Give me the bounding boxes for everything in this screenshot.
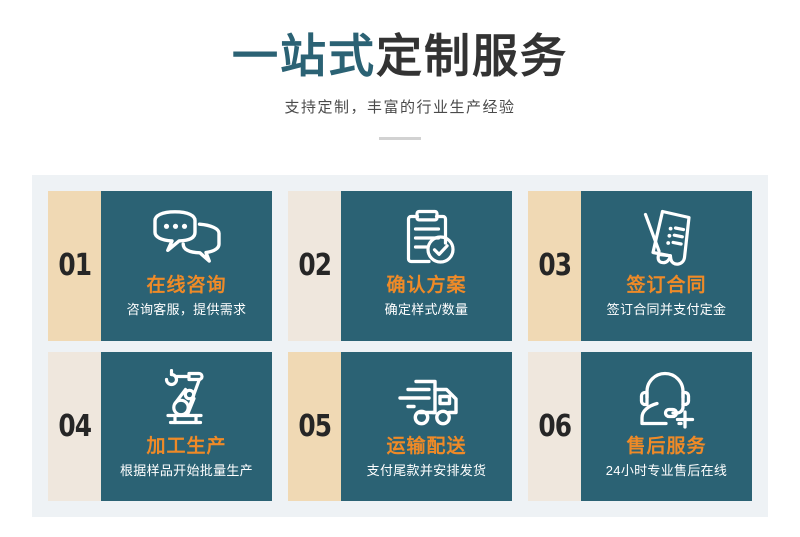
step-number: 02 <box>298 248 331 283</box>
step-number-strip: 02 <box>288 191 341 341</box>
delivery-truck-icon <box>390 369 464 431</box>
step-subtitle: 根据样品开始批量生产 <box>120 462 253 480</box>
sign-contract-icon <box>637 208 697 270</box>
page-header: 一站式定制服务 支持定制，丰富的行业生产经验 <box>0 0 800 140</box>
step-body: 售后服务 24小时专业售后在线 <box>581 352 752 502</box>
step-number: 04 <box>58 409 91 444</box>
step-number-strip: 01 <box>48 191 101 341</box>
step-card-01[interactable]: 01 在线咨询 咨询客服，提供需求 <box>48 191 272 341</box>
step-number-strip: 04 <box>48 352 101 502</box>
step-subtitle: 支付尾款并安排发货 <box>367 462 487 480</box>
step-number-strip: 05 <box>288 352 341 502</box>
step-number-strip: 06 <box>528 352 581 502</box>
headset-support-plus-icon <box>635 369 699 431</box>
step-title: 售后服务 <box>626 435 706 459</box>
step-title: 签订合同 <box>626 274 706 298</box>
step-title: 加工生产 <box>146 435 226 459</box>
page-title-accent: 一站式 <box>232 30 376 82</box>
robot-arm-icon <box>156 369 218 431</box>
steps-panel: 01 在线咨询 咨询客服，提供需求 02 <box>32 175 768 517</box>
step-subtitle: 确定样式/数量 <box>385 301 469 319</box>
step-card-04[interactable]: 04 <box>48 352 272 502</box>
step-body: 在线咨询 咨询客服，提供需求 <box>101 191 272 341</box>
step-card-06[interactable]: 06 售后服务 24小时专 <box>528 352 752 502</box>
title-divider <box>379 137 421 140</box>
chat-bubbles-icon <box>151 208 223 270</box>
step-title: 在线咨询 <box>146 274 226 298</box>
clipboard-check-icon <box>396 208 458 270</box>
step-card-02[interactable]: 02 确认方案 确定样式/ <box>288 191 512 341</box>
step-subtitle: 签订合同并支付定金 <box>607 301 727 319</box>
page-title: 一站式定制服务 <box>0 27 800 85</box>
steps-grid: 01 在线咨询 咨询客服，提供需求 02 <box>48 191 752 501</box>
step-number: 03 <box>538 248 571 283</box>
step-number: 01 <box>58 248 91 283</box>
step-number: 06 <box>538 409 571 444</box>
step-subtitle: 24小时专业售后在线 <box>606 462 727 480</box>
page-title-dark: 定制服务 <box>376 30 568 82</box>
step-body: 运输配送 支付尾款并安排发货 <box>341 352 512 502</box>
step-title: 运输配送 <box>386 435 466 459</box>
page-subtitle: 支持定制，丰富的行业生产经验 <box>0 98 800 118</box>
step-body: 加工生产 根据样品开始批量生产 <box>101 352 272 502</box>
step-body: 签订合同 签订合同并支付定金 <box>581 191 752 341</box>
step-subtitle: 咨询客服，提供需求 <box>127 301 247 319</box>
step-card-03[interactable]: 03 签订合同 <box>528 191 752 341</box>
step-number-strip: 03 <box>528 191 581 341</box>
step-title: 确认方案 <box>386 274 466 298</box>
step-card-05[interactable]: 05 运输配送 支付尾款并 <box>288 352 512 502</box>
step-number: 05 <box>298 409 331 444</box>
step-body: 确认方案 确定样式/数量 <box>341 191 512 341</box>
